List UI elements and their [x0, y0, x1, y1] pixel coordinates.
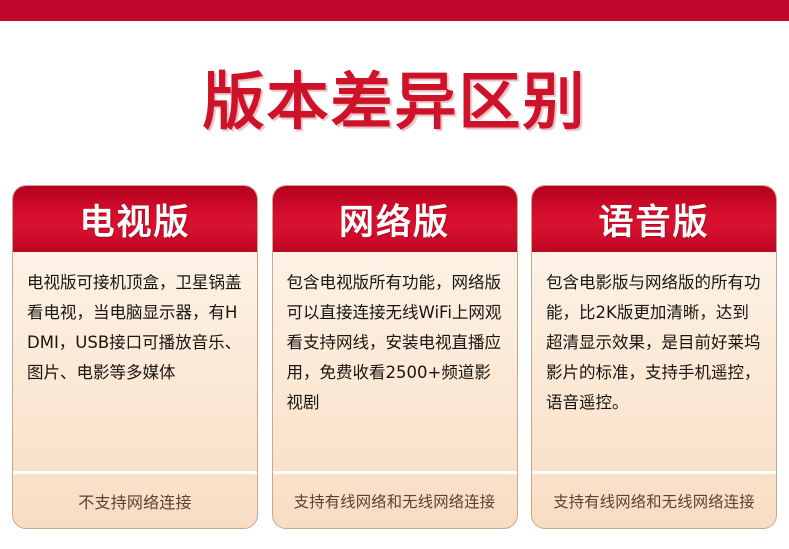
- version-card-tv-description: 电视版可接机顶盒，卫星锅盖看电视，当电脑显示器，有HDMI，USB接口可播放音乐…: [13, 252, 257, 471]
- version-card-tv-header: 电视版: [13, 186, 257, 252]
- version-card-network: 网络版 包含电视版所有功能，网络版可以直接连接无线WiFi上网观看支持网线，安装…: [272, 185, 518, 529]
- version-card-voice-header: 语音版: [532, 186, 776, 252]
- version-comparison-cards: 电视版 电视版可接机顶盒，卫星锅盖看电视，当电脑显示器，有HDMI，USB接口可…: [12, 185, 777, 529]
- version-card-voice-description: 包含电影版与网络版的所有功能，比2K版更加清晰，达到超清显示效果，是目前好莱坞影…: [532, 252, 776, 471]
- version-card-network-header: 网络版: [273, 186, 517, 252]
- page-title: 版本差异区别: [0, 66, 789, 138]
- version-card-voice-network-note: 支持有线网络和无线网络连接: [532, 474, 776, 528]
- version-card-network-description: 包含电视版所有功能，网络版可以直接连接无线WiFi上网观看支持网线，安装电视直播…: [273, 252, 517, 471]
- top-accent-bar: [0, 0, 789, 21]
- version-card-voice: 语音版 包含电影版与网络版的所有功能，比2K版更加清晰，达到超清显示效果，是目前…: [531, 185, 777, 529]
- version-card-tv: 电视版 电视版可接机顶盒，卫星锅盖看电视，当电脑显示器，有HDMI，USB接口可…: [12, 185, 258, 529]
- version-card-network-network-note: 支持有线网络和无线网络连接: [273, 474, 517, 528]
- version-card-tv-network-note: 不支持网络连接: [13, 474, 257, 528]
